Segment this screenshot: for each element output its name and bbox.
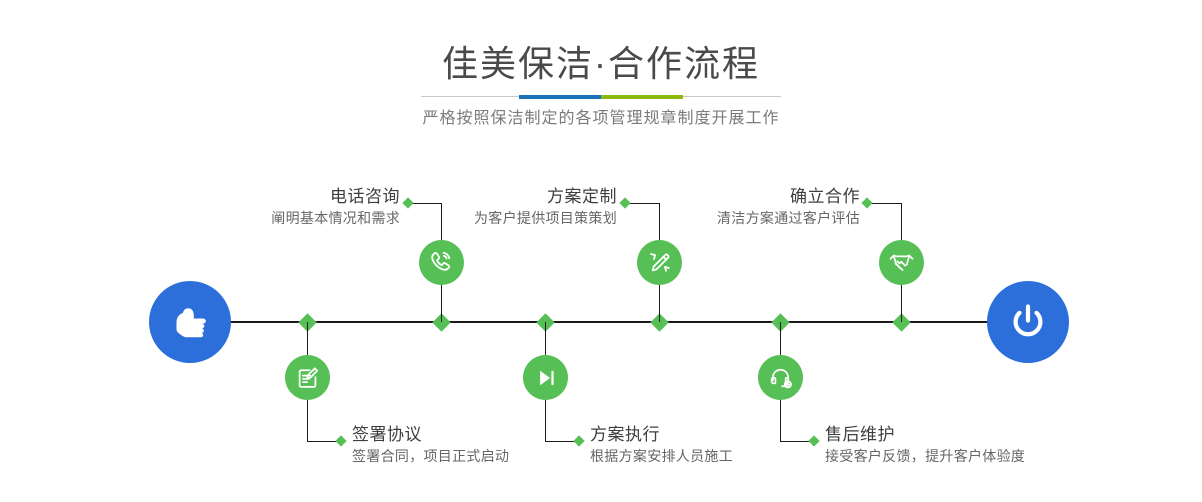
timeline-start-node <box>149 281 231 363</box>
divider-segment-green <box>601 95 683 99</box>
step-title-3: 方案定制 <box>400 186 617 208</box>
plan-design-icon <box>647 250 673 276</box>
step-desc-3: 为客户提供项目策策划 <box>400 208 617 228</box>
step-node-3[interactable] <box>637 240 682 285</box>
step-node-2[interactable] <box>285 355 330 400</box>
page-title: 佳美保洁·合作流程 <box>0 42 1202 86</box>
flowchart-canvas: 佳美保洁·合作流程 严格按照保洁制定的各项管理规章制度开展工作 <box>0 0 1202 502</box>
step-desc-4: 根据方案安排人员施工 <box>590 446 850 466</box>
phone-consult-icon <box>428 249 455 276</box>
step-node-1[interactable] <box>419 240 464 285</box>
timeline-end-node <box>987 281 1069 363</box>
customer-service-icon <box>768 365 794 391</box>
label-marker-5 <box>861 197 872 208</box>
pointing-hand-icon <box>168 300 212 344</box>
label-marker-2 <box>335 435 346 446</box>
step-label-5: 确立合作 清洁方案通过客户评估 <box>650 186 860 228</box>
step-label-4: 方案执行 根据方案安排人员施工 <box>590 424 850 466</box>
divider-segment-blue <box>519 95 601 99</box>
connector-horizontal-5 <box>870 203 902 204</box>
step-label-1: 电话咨询 阐明基本情况和需求 <box>160 186 400 228</box>
divider-segment-grey-right <box>683 96 781 97</box>
step-title-5: 确立合作 <box>650 186 860 208</box>
step-desc-5: 清洁方案通过客户评估 <box>650 208 860 228</box>
execute-play-icon <box>533 365 559 391</box>
step-label-3: 方案定制 为客户提供项目策策划 <box>400 186 617 228</box>
step-desc-1: 阐明基本情况和需求 <box>160 208 400 228</box>
step-node-5[interactable] <box>879 240 924 285</box>
handshake-icon <box>888 249 915 276</box>
sign-document-icon <box>295 365 321 391</box>
power-icon <box>1005 299 1051 345</box>
step-title-1: 电话咨询 <box>160 186 400 208</box>
title-divider <box>421 95 781 99</box>
step-title-6: 售后维护 <box>825 424 1125 446</box>
divider-segment-grey-left <box>421 96 519 97</box>
timeline-axis <box>196 321 1011 323</box>
label-marker-3 <box>619 197 630 208</box>
step-node-6[interactable] <box>758 355 803 400</box>
page-subtitle: 严格按照保洁制定的各项管理规章制度开展工作 <box>0 107 1202 131</box>
step-node-4[interactable] <box>523 355 568 400</box>
step-desc-6: 接受客户反馈，提升客户体验度 <box>825 446 1125 466</box>
step-label-6: 售后维护 接受客户反馈，提升客户体验度 <box>825 424 1125 466</box>
